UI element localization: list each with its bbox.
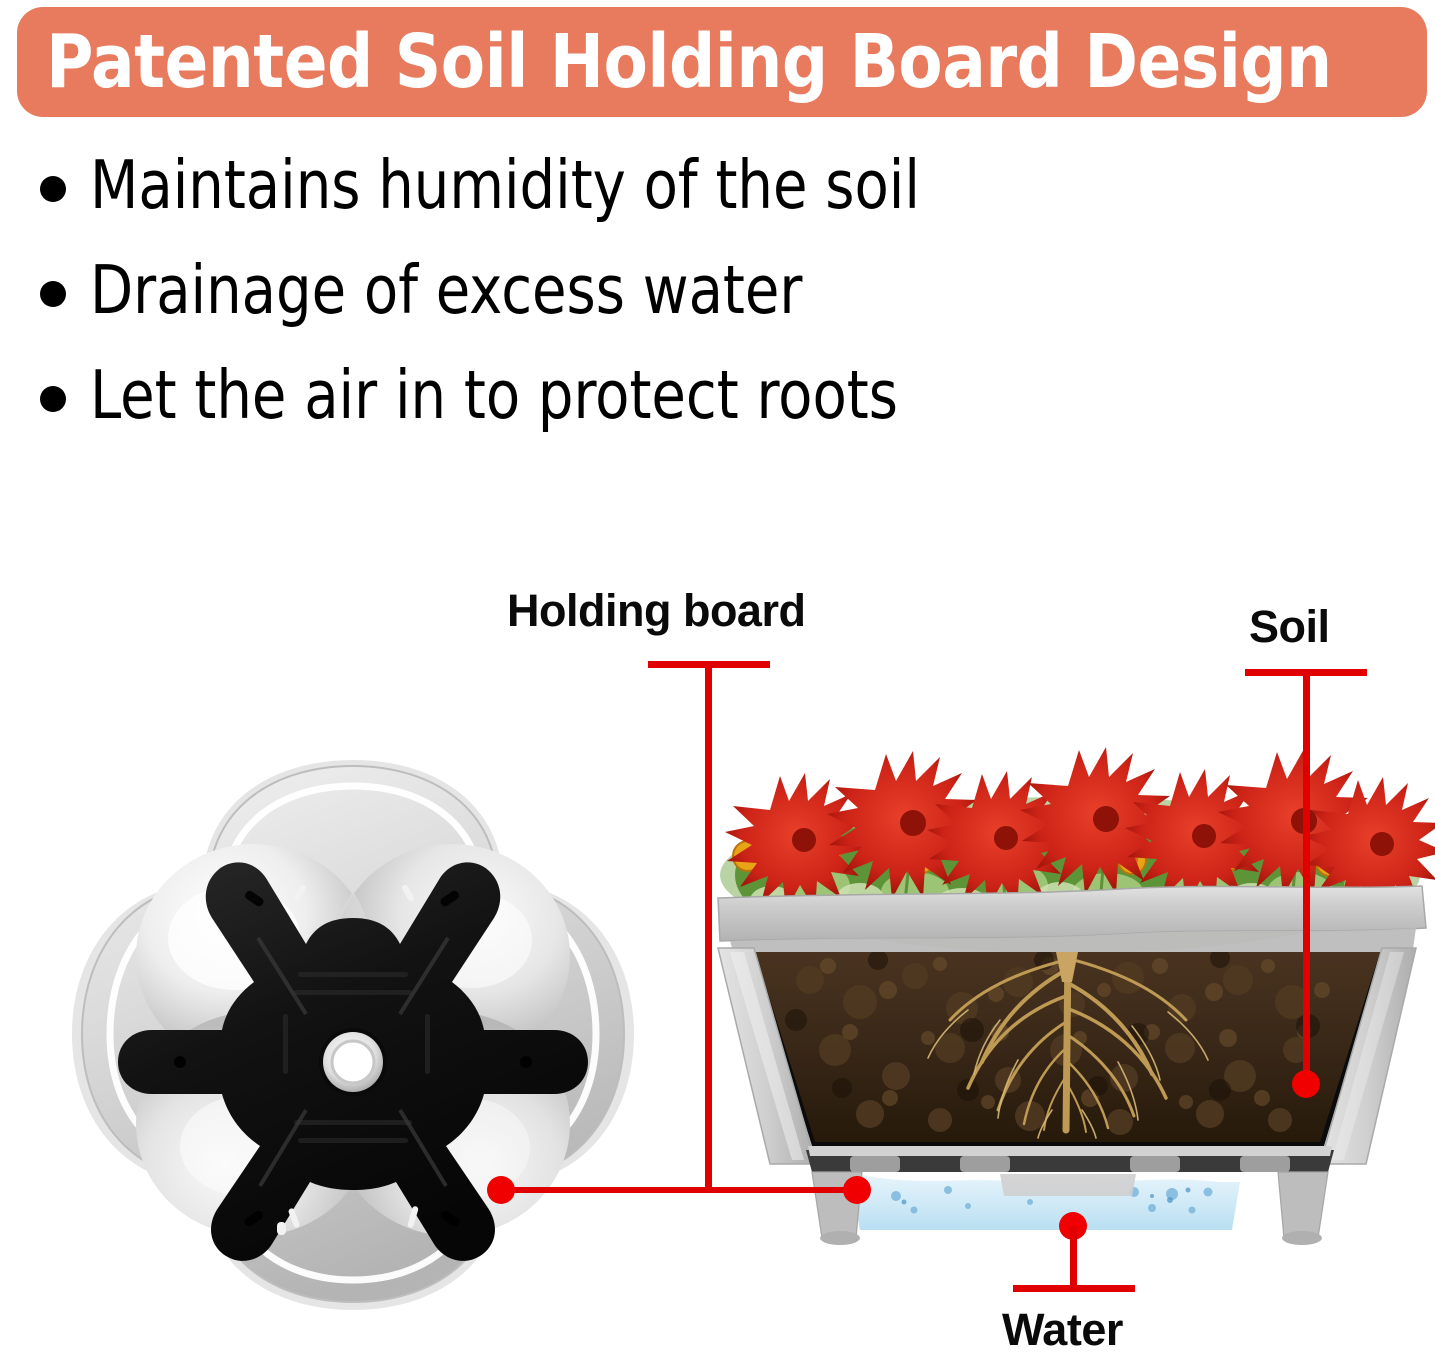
leader-horizontal-holding-board xyxy=(500,1187,870,1193)
leader-cap-water xyxy=(1013,1285,1135,1292)
leader-dot-holding-board-right xyxy=(843,1176,871,1204)
header-banner: Patented Soil Holding Board Design xyxy=(17,7,1427,117)
page-title: Patented Soil Holding Board Design xyxy=(17,19,1332,105)
leader-vertical-holding-board xyxy=(705,661,712,1190)
leader-vertical-soil xyxy=(1303,669,1310,1083)
feature-list: Maintains humidity of the soil Drainage … xyxy=(40,152,1190,467)
list-item-label: Let the air in to protect roots xyxy=(90,362,898,429)
quatrefoil-planter-top-view xyxy=(48,742,658,1342)
leader-dot-holding-board-left xyxy=(487,1176,515,1204)
bullet-point-icon xyxy=(40,386,66,412)
list-item: Maintains humidity of the soil xyxy=(40,152,1190,257)
leader-vertical-water xyxy=(1070,1226,1077,1290)
list-item-label: Maintains humidity of the soil xyxy=(90,152,920,219)
callout-label-water: Water xyxy=(1002,1304,1123,1356)
list-item: Drainage of excess water xyxy=(40,257,1190,362)
leader-dot-soil xyxy=(1292,1070,1320,1098)
bullet-point-icon xyxy=(40,281,66,307)
list-item-label: Drainage of excess water xyxy=(90,257,802,324)
planter-cross-section xyxy=(700,690,1435,1290)
callout-label-holding-board: Holding board xyxy=(507,585,805,637)
bullet-point-icon xyxy=(40,176,66,202)
callout-label-soil: Soil xyxy=(1249,601,1330,653)
list-item: Let the air in to protect roots xyxy=(40,362,1190,467)
